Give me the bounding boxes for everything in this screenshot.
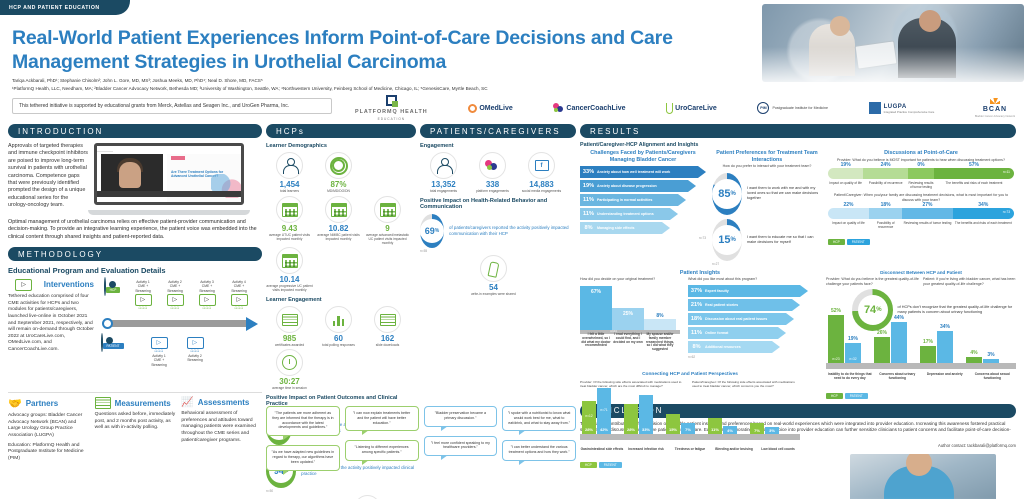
bcan-logo-label: BCAN: [983, 106, 1007, 113]
preference-15-text: I want them to educate me so that I can …: [747, 235, 822, 245]
stat-utuc-value: 9.43: [266, 224, 313, 233]
hcp-track-tag: HCP: [106, 287, 121, 293]
monitor-icon: [15, 279, 32, 291]
disconnect-callout-text: of HCPs don't recognize that the greates…: [897, 305, 1016, 315]
poc-patient-segment: [902, 208, 952, 219]
disconnect-bar-patient: 34%: [937, 331, 953, 363]
connecting-bar-patient: 4%: [723, 426, 737, 434]
patient-track-tag: PATIENT: [103, 343, 124, 349]
person-icon: [430, 152, 457, 179]
disconnect-block: Disconnect Between HCP and Patient Provi…: [826, 270, 1016, 399]
webinar-topbar: [97, 146, 113, 152]
preference-85-text: I want them to work with me and with my …: [747, 186, 822, 201]
challenges-title: Challenges Faced by Patients/Caregivers …: [580, 150, 706, 163]
preferences-question: How do you prefer to interact with your …: [712, 164, 822, 169]
connecting-hcp-value: 28%: [624, 427, 638, 432]
calendar-icon: [325, 196, 352, 223]
stat-utuc-visits: 9.43 average UTUC patient visits impacte…: [266, 196, 313, 245]
stat-certificates-label: certificates awarded: [266, 343, 313, 347]
bcan-logo-sub: Bladder Cancer Advocacy Network: [975, 115, 1015, 118]
challenges-chart: Challenges Faced by Patients/Caregivers …: [580, 150, 706, 266]
results-section1-title: Patient/Caregiver-HCP Alignment and Insi…: [580, 142, 1016, 148]
disconnect-hcp-value: 52%: [828, 308, 844, 314]
platformq-logo-label: PLATFORMQ HEALTH: [355, 109, 428, 115]
connecting-bar-hcp: 7%: [750, 423, 764, 434]
insight-label: Real patient stories: [705, 303, 792, 307]
omedlive-ring-icon: [468, 104, 477, 113]
challenge-label: Anxiety about disease progression: [597, 184, 688, 188]
connecting-perspectives-block: Connecting HCP and Patient Perspectives …: [580, 372, 800, 468]
patient-activity-2: ⌂⌂⌂ Activity 2 Streaming: [182, 336, 208, 362]
donut-85-value: 85%: [712, 179, 742, 209]
hcp-activity-1-monitor-icon: [135, 294, 152, 306]
disconnect-legend-hcp: HCP: [826, 393, 843, 399]
connecting-hcp-value: 15%: [666, 427, 680, 432]
calendar-icon: [374, 196, 401, 223]
assessments-text: Behavioral assessment of preferences and…: [181, 411, 262, 444]
patient-writein-label: write-in examples were shared: [470, 292, 517, 296]
disconnect-category: Depression and anxiety: [921, 373, 969, 381]
measurements-block: Measurements Questions asked before, imm…: [95, 397, 176, 462]
connecting-patient-value: 33%: [639, 427, 653, 432]
hcp-activity-1-detail: CME + Streaming: [130, 284, 156, 292]
partners-block: 🤝 Partners Advocacy groups: Bladder Canc…: [8, 397, 89, 462]
visit-impact-stats: 9.43 average UTUC patient visits impacte…: [266, 196, 416, 292]
connecting-bar-hcp: 15%: [666, 414, 680, 434]
column-patients-caregivers: PATIENTS/CAREGIVERS Engagement 13,352 to…: [420, 124, 576, 296]
connecting-bar-patient: 7%: [681, 423, 695, 434]
insight-pct: 11%: [688, 330, 705, 336]
insights-right-n: n=62: [688, 355, 818, 359]
challenge-label: Participating in normal activities: [597, 198, 678, 202]
learner-engagement-title: Learner Engagement: [266, 297, 416, 303]
stat-nmibc-label: average NMIBC patient visits impacted mo…: [315, 233, 362, 241]
hcp-writein-stat: 74 write-in examples were shared: [344, 495, 391, 499]
webinar-screenshot: Are There Treatment Options for Advanced…: [94, 143, 244, 215]
hcp-activity-3: Activity 3 CME + Streaming ⌂⌂⌂: [194, 280, 220, 311]
results-row-1: Challenges Faced by Patients/Caregivers …: [580, 150, 1016, 266]
insights-categories: I felt a little overwhelmed, so I did wh…: [580, 333, 676, 352]
platformq-health-logo: PLATFORMQ HEALTH EDUCATION: [355, 95, 428, 121]
disconnect-patient-n: n=32: [845, 357, 861, 361]
disconnect-bar-patient: 3%: [983, 359, 999, 363]
hcp-activity-1: Activity 1 CME + Streaming ⌂⌂⌂: [130, 280, 156, 311]
donut-69-value: 69%: [420, 219, 444, 243]
challenge-arrow: 33% Anxiety about how well treatment wil…: [580, 166, 698, 178]
challenges-n: n=73: [580, 236, 706, 240]
timeline-bar: [108, 320, 246, 327]
insights-left-chart: How did you decide on your original trea…: [580, 276, 680, 359]
partner-logos: PLATFORMQ HEALTH EDUCATION OMedLive Canc…: [355, 96, 1015, 120]
photo-tablet: [855, 40, 898, 69]
interventions-header: Interventions: [8, 278, 94, 291]
patient-engagement-stats: 13,352 total engagements 338 platform en…: [420, 152, 576, 193]
connecting-category: Gastrointestinal side effects: [580, 448, 624, 452]
poc-patient-question: Patient/Caregiver: When you/your family …: [828, 193, 1014, 202]
poc-legend-hcp: HCP: [828, 239, 845, 245]
person-icon: [276, 152, 303, 179]
poc-category: Possibility of recurrence: [863, 179, 908, 189]
quote-bubble: "The patients are more adherent as they …: [266, 406, 340, 436]
urocarelive-logo-label: UroCareLive: [675, 105, 717, 112]
stat-utuc-label: average UTUC patient visits impacted mon…: [266, 233, 313, 241]
hcp-activity-4-legs: ⌂⌂⌂: [226, 306, 252, 311]
hcp-activity-3-monitor-icon: [199, 294, 216, 306]
poc-hcp-categories: Impact on quality of life Possibility of…: [828, 179, 1014, 189]
connecting-hcp-n: n=12: [582, 414, 596, 418]
stat-social-engagements: f 14,883 social media engagements: [518, 152, 565, 193]
hcp-activity-2-monitor-icon: [167, 294, 184, 306]
challenge-pct: 11%: [580, 211, 597, 217]
disconnect-title: Disconnect Between HCP and Patient: [826, 270, 1016, 277]
donut-85-icon: 85%: [712, 173, 742, 215]
page-title: Real-World Patient Experiences Inform Po…: [12, 26, 712, 74]
patients-heading: PATIENTS/CAREGIVERS: [430, 127, 561, 136]
quote-bubble: "As we have adapted new guidelines in re…: [266, 445, 340, 470]
disconnect-hcp-value: 4%: [966, 350, 982, 356]
poc-patient-bar: n=73: [828, 208, 1014, 219]
pim-logo: PIM Postgraduate Institute for Medicine: [757, 102, 828, 114]
insights-category: I read everything I could find, and I de…: [612, 333, 644, 352]
disconnect-bar-hcp: 52% n=23: [828, 315, 844, 363]
stat-total-engagements: 13,352 total engagements: [420, 152, 467, 193]
insight-label: Additional resources: [705, 345, 772, 349]
disconnect-group-4: 4% 3%: [966, 357, 999, 363]
certificate-icon: [276, 306, 303, 333]
disconnect-group-2: 26% 44%: [874, 322, 907, 363]
insights-arrow-list: 37% Expert faculty 21% Real patient stor…: [688, 285, 818, 353]
disconnect-legend: HCP PATIENT: [826, 393, 1016, 399]
disconnect-axis: [826, 363, 1016, 369]
disconnect-bar-patient: 44%: [891, 322, 907, 363]
photo-head-right: [919, 10, 941, 32]
stat-progressive-label: average progressive UC patient visits im…: [266, 284, 313, 292]
poc-hcp-bar: n=11: [828, 168, 1014, 179]
patient-activity-1-monitor-icon: [151, 337, 168, 349]
insight-pct: 18%: [688, 316, 705, 322]
stat-platform-engagements: 338 platform engagements: [469, 152, 516, 193]
insights-bar-chart: 67% 25% 8% n=24 I felt a little overwhel…: [580, 286, 680, 352]
grant-support-text: This tethered initiative is supported by…: [19, 103, 289, 109]
partners-header: 🤝 Partners: [8, 397, 89, 410]
challenge-pct: 11%: [580, 197, 597, 203]
stat-total-learners-label: total learners: [266, 189, 313, 193]
donut-69-icon: 69%: [420, 214, 444, 248]
poc-patient-segment: [828, 208, 869, 219]
hcp-activity-4-detail: CME + Streaming: [226, 284, 252, 292]
trend-chart-icon: 📈: [181, 397, 193, 408]
learner-demographics-title: Learner Demographics: [266, 143, 416, 149]
photo-figure-right: [898, 18, 956, 78]
stat-certificates: 985 certificates awarded: [266, 306, 313, 347]
assessments-label: Assessments: [198, 398, 250, 407]
measurements-text: Questions asked before, immediately post…: [95, 412, 176, 432]
section-header-introduction: INTRODUCTION: [8, 124, 262, 138]
stat-polling-label: total polling responses: [315, 343, 362, 347]
connecting-group-3: 15% 7%: [666, 414, 695, 434]
stat-progressive-value: 10.14: [266, 275, 313, 284]
learner-demographics-stats: 1,454 total learners 87% MD/MD/DO/DN: [266, 152, 416, 193]
grant-support-box: This tethered initiative is supported by…: [12, 98, 332, 114]
connecting-patient-question: Patient/Caregiver: Of the following side…: [692, 380, 800, 389]
donut-15-value: 15%: [712, 225, 742, 255]
poc-legend-patient: PATIENT: [847, 239, 870, 245]
connecting-patient-value: 4%: [723, 428, 737, 433]
disconnect-legend-patient: PATIENT: [845, 393, 868, 399]
poc-category: The benefits and risks of each treatment: [934, 179, 1014, 189]
patient-activity-2-monitor-icon: [187, 337, 204, 349]
insight-arrow: 18% Discussion about real patient issues: [688, 313, 786, 325]
challenge-label: Anxiety about how well treatment will wo…: [597, 170, 698, 174]
timeline-patient-track: PATIENT: [100, 334, 124, 352]
quote-column-2: "I can now explain treatments better and…: [345, 406, 419, 480]
disconnect-categories: Inability to do the things that need to …: [826, 373, 1016, 381]
poc-category: The benefits and risks of each treatment: [953, 219, 1014, 229]
methodology-subtitle: Educational Program and Evaluation Detai…: [8, 266, 262, 275]
connecting-legend: HCP PATIENT: [580, 462, 800, 468]
hcp-activity-4-monitor-icon: [231, 294, 248, 306]
cancercoachlive-logo-label: CancerCoachLive: [566, 105, 625, 112]
stat-nmibc-visits: 10.82 average NMIBC patient visits impac…: [315, 196, 362, 245]
patient-impact-69-n: n=55: [420, 249, 576, 253]
webinar-video-tile: [101, 154, 163, 194]
methodology-bottom: 🤝 Partners Advocacy groups: Bladder Canc…: [8, 397, 262, 462]
stat-credentials-value: 87%: [315, 180, 362, 189]
disconnect-bar-hcp: 26%: [874, 337, 890, 363]
insights-title: Patient Insights: [580, 270, 820, 277]
stat-platform-engagements-label: platform engagements: [469, 189, 516, 193]
cancercoachlive-logo: CancerCoachLive: [553, 103, 625, 113]
stat-total-engagements-label: total engagements: [420, 189, 467, 193]
insight-arrow: 21% Real patient stories: [688, 299, 792, 311]
connecting-legend-patient: PATIENT: [599, 462, 622, 468]
hcp-impact-94-n: n=50: [266, 489, 416, 493]
platformq-mark-icon: [386, 95, 397, 106]
insights-bars: 67% 25% 8%: [580, 286, 676, 330]
omedlive-logo-label: OMedLive: [479, 105, 512, 112]
quote-bubble: "Listening to different experiences amon…: [345, 440, 419, 461]
bcan-burst-icon: [990, 98, 1000, 104]
calendar-icon: [276, 247, 303, 274]
poc-category: Impact on quality of life: [828, 219, 869, 229]
disconnect-bar-hcp: 17%: [920, 346, 936, 363]
preference-15: 15% I want them to educate me so that I …: [712, 219, 822, 261]
methodology-divider: [8, 392, 262, 393]
disconnect-patient-value: 34%: [937, 324, 953, 330]
cancercoachlive-dots-icon: [553, 103, 564, 113]
disconnect-group-3: 17% 34%: [920, 331, 953, 363]
patient-person-icon: [101, 333, 103, 352]
preference-85: 85% I want them to work with me and with…: [712, 173, 822, 215]
stat-total-learners-value: 1,454: [266, 180, 313, 189]
quote-bubble: "I can now explain treatments better and…: [345, 406, 419, 431]
poc-hcp-segment: [863, 168, 908, 179]
timeline-hcp-track: HCP: [100, 278, 124, 296]
donut-15-icon: 15%: [712, 219, 742, 261]
insights-bar-value: 8%: [644, 313, 676, 319]
disconnect-category: Concerns about urinary functioning: [874, 373, 922, 381]
connecting-bar-hcp: 11%: [708, 418, 722, 434]
quote-column-4: "I spoke with a nutritionist to know wha…: [502, 406, 576, 480]
partners-text-2: Education: PlatformQ Health and Postgrad…: [8, 443, 89, 463]
slides-icon: [374, 306, 401, 333]
platformq-logo-sub: EDUCATION: [378, 117, 406, 121]
social-icon: [479, 152, 506, 179]
lugpa-mark-icon: [869, 102, 881, 114]
clock-icon: [276, 349, 303, 376]
poc-patient-segment: n=73: [953, 208, 1014, 219]
connecting-bar-patient: 33%: [639, 395, 653, 434]
introduction-body: Approvals of targeted therapies and immu…: [8, 143, 262, 215]
handshake-icon: 🤝: [8, 397, 22, 410]
insight-pct: 21%: [688, 302, 705, 308]
pim-logo-label: Postgraduate Institute for Medicine: [772, 106, 828, 110]
disconnect-hcp-value: 17%: [920, 339, 936, 345]
disconnect-patient-value: 44%: [891, 315, 907, 321]
challenge-arrow: 11% Participating in normal activities: [580, 194, 678, 206]
section-header-results: RESULTS: [580, 124, 1016, 138]
hcp-activity-2: Activity 2 CME + Streaming ⌂⌂⌂: [162, 280, 188, 311]
hcp-activity-4: Activity 4 CME + Streaming ⌂⌂⌂: [226, 280, 252, 311]
assessments-header: 📈 Assessments: [181, 397, 262, 408]
hcp-person-icon: [104, 277, 106, 296]
quote-bubbles-row: "The patients are more adherent as they …: [266, 406, 576, 480]
patient-impact-69-text: of patients/caregivers reported the acti…: [449, 225, 576, 237]
nurse-photo: [850, 454, 996, 499]
poc-patient-categories: Impact on quality of life Possibility of…: [828, 219, 1014, 229]
stat-slides: 162 slide downloads: [364, 306, 411, 347]
insights-bar: 67%: [580, 286, 612, 330]
stat-polling: 60 total polling responses: [315, 306, 362, 347]
stat-slides-value: 162: [364, 334, 411, 343]
disconnect-patient-value: 3%: [983, 352, 999, 358]
omedlive-logo: OMedLive: [468, 104, 512, 113]
poc-patient-n: n=73: [1003, 210, 1010, 214]
nurse-scrubs: [884, 466, 954, 499]
lugpa-logo: LUGPA Integrated Practice Comprehensive …: [869, 102, 935, 114]
insights-category: I felt a little overwhelmed, so I did wh…: [580, 333, 612, 352]
bars-icon: [325, 306, 352, 333]
poc-hcp-n: n=11: [1003, 170, 1010, 174]
connecting-category: Tiredness or fatigue: [668, 448, 712, 452]
disconnect-patient-question: Patient: If you're living with bladder c…: [923, 277, 1016, 286]
measurements-doc-icon: [95, 397, 111, 409]
challenge-arrow: 19% Anxiety about disease progression: [580, 180, 688, 192]
poc-hcp-segment: [908, 168, 934, 179]
poc-title: Discussions at Point-of-Care: [828, 150, 1014, 157]
measurements-header: Measurements: [95, 397, 176, 409]
insight-pct: 37%: [688, 288, 705, 294]
challenge-pct: 8%: [580, 225, 597, 231]
stat-social-engagements-label: social media engagements: [518, 189, 565, 193]
partners-label: Partners: [26, 399, 58, 408]
connecting-bar-hcp: n=12 28%: [582, 401, 596, 434]
insights-right-question: What did you like most about this progra…: [688, 277, 818, 282]
insights-bar: 25%: [612, 308, 644, 330]
patient-impact-title: Positive Impact on Health-Related Behavi…: [420, 198, 576, 210]
laptop-base: [88, 210, 250, 215]
hcp-activity-3-legs: ⌂⌂⌂: [194, 306, 220, 311]
connecting-patient-value: 3%: [765, 428, 779, 433]
introduction-heading: INTRODUCTION: [18, 127, 103, 136]
insight-label: Discussion about real patient issues: [705, 317, 786, 321]
challenge-arrow: 11% Understanding treatment options: [580, 208, 670, 220]
patient-activity-1-detail: CME + Streaming: [146, 358, 172, 366]
insights-bar: 8%: [644, 319, 676, 330]
target-icon: [325, 152, 352, 179]
stat-platform-engagements-value: 338: [469, 180, 516, 189]
poc-category: Impact on quality of life: [828, 179, 863, 189]
connecting-bar-hcp: 28%: [624, 404, 638, 434]
stat-total-engagements-value: 13,352: [420, 180, 467, 189]
insight-label: Online format: [705, 331, 778, 335]
calendar-icon: [276, 196, 303, 223]
urocarelive-logo: UroCareLive: [666, 103, 717, 114]
lugpa-logo-label: LUGPA: [884, 104, 907, 110]
introduction-paragraph-2: Optimal management of urothelial carcino…: [8, 219, 262, 241]
pencil-icon: [354, 495, 381, 499]
challenge-pct: 33%: [580, 169, 597, 175]
introduction-paragraph-1: Approvals of targeted therapies and immu…: [8, 143, 88, 215]
stat-polling-value: 60: [315, 334, 362, 343]
insight-label: Expert faculty: [705, 289, 800, 293]
challenges-arrow-list: 33% Anxiety about how well treatment wil…: [580, 166, 706, 234]
photo-figure-left: [809, 24, 855, 76]
laptop-screen: Are There Treatment Options for Advanced…: [94, 143, 244, 205]
quote-column-1: "The patients are more adherent as they …: [266, 406, 340, 480]
interventions-text: Tethered education comprised of four CME…: [8, 294, 94, 353]
preferences-chart: Patient Preferences for Treatment Team I…: [712, 150, 822, 266]
disconnect-hcp-value: 26%: [874, 330, 890, 336]
stat-advanced-visits: 9 average advanced/metastatic UC patient…: [364, 196, 411, 245]
hcp-activity-2-detail: CME + Streaming: [162, 284, 188, 292]
stat-certificates-value: 985: [266, 334, 313, 343]
stat-session-time: 30:27 average time in session: [266, 349, 313, 390]
insight-arrow: 37% Expert faculty: [688, 285, 800, 297]
results-heading: RESULTS: [590, 127, 640, 136]
poc-hcp-segment: n=11: [934, 168, 1014, 179]
patient-impact-69: 69% of patients/caregivers reported the …: [420, 214, 576, 248]
connecting-category: Increased infection risk: [624, 448, 668, 452]
preferences-title: Patient Preferences for Treatment Team I…: [712, 150, 822, 163]
stat-credentials: 87% MD/MD/DO/DN: [315, 152, 362, 193]
connecting-group-1: n=12 28% n=71 42%: [582, 388, 611, 434]
connecting-group-5: 7% 3%: [750, 423, 779, 434]
urocarelive-mark-icon: [666, 103, 673, 114]
insight-pct: 8%: [688, 344, 705, 350]
section-header-hcps: HCPs: [266, 124, 416, 138]
eyebrow-label: HCP AND PATIENT EDUCATION: [9, 5, 100, 11]
challenge-label: Managing side effects: [597, 226, 662, 230]
quote-column-3: "Bladder preservation became a primary d…: [424, 406, 498, 480]
disconnect-bar-hcp: 4%: [966, 357, 982, 363]
stat-slides-label: slide downloads: [364, 343, 411, 347]
challenge-label: Understanding treatment options: [597, 212, 670, 216]
preferences-n: n=27: [712, 262, 822, 266]
stat-nmibc-value: 10.82: [315, 224, 362, 233]
challenge-arrow: 8% Managing side effects: [580, 222, 662, 234]
author-list: Tariqa Ackbarali, PhD¹; Stephanie Chisol…: [12, 78, 702, 92]
insights-right-chart: What did you like most about this progra…: [688, 276, 818, 359]
hcp-activity-2-legs: ⌂⌂⌂: [162, 306, 188, 311]
disconnect-bar-chart: 52% n=23 19% n=32 26% 44%: [826, 317, 1016, 381]
methodology-top: Interventions Tethered education compris…: [8, 278, 262, 386]
connecting-patient-n: n=71: [597, 408, 611, 412]
bcan-logo: BCAN Bladder Cancer Advocacy Network: [975, 98, 1015, 118]
clinician-patient-photo: [762, 4, 1024, 82]
stat-advanced-value: 9: [364, 224, 411, 233]
slide-brand-chip: [171, 156, 185, 160]
